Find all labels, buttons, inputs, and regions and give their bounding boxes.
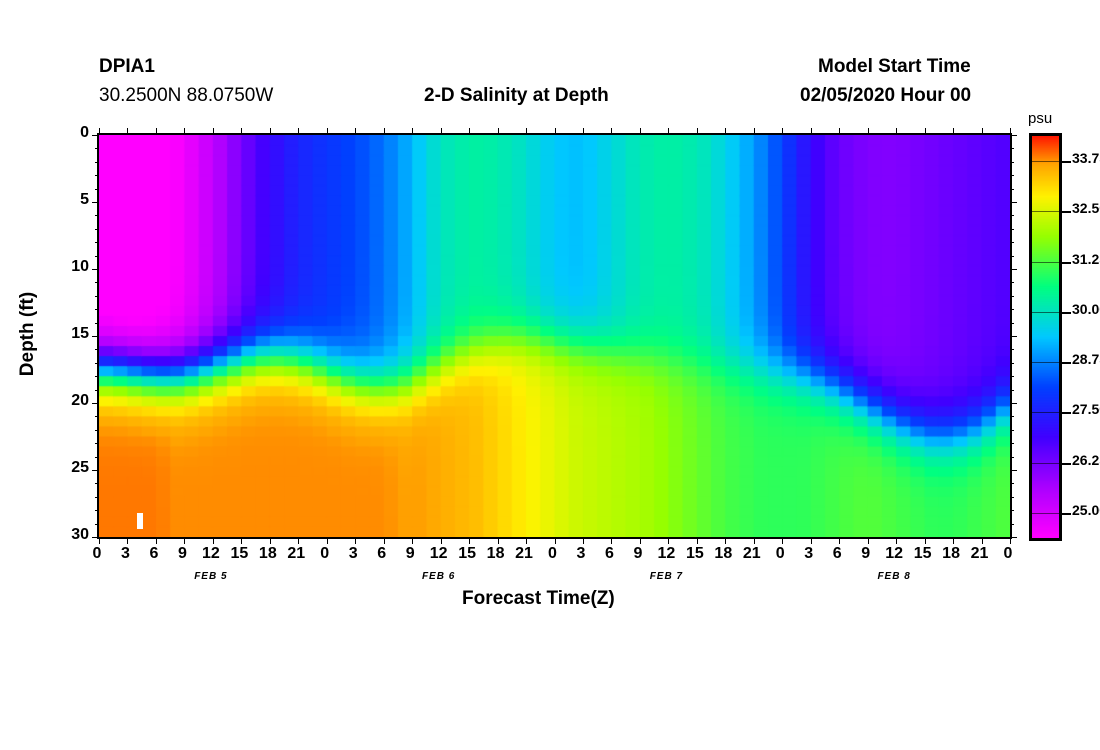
x-tick [156, 128, 157, 135]
x-tick [270, 128, 271, 135]
x-tick-label: 15 [914, 545, 932, 563]
x-tick [1010, 537, 1011, 544]
x-tick-label: 12 [885, 545, 903, 563]
y-tick [1010, 336, 1017, 337]
y-minor-tick [95, 309, 99, 310]
y-minor-tick [1010, 323, 1014, 324]
model-start-label: Model Start Time [818, 56, 971, 78]
colorbar-unit-label: psu [1028, 110, 1052, 127]
y-minor-tick [95, 148, 99, 149]
x-tick [498, 128, 499, 135]
x-tick-label: 0 [776, 545, 785, 563]
colorbar-gradient [1032, 136, 1059, 538]
x-tick [384, 537, 385, 544]
colorbar-tick [1062, 513, 1071, 515]
y-minor-tick [1010, 416, 1014, 417]
x-tick [982, 128, 983, 135]
x-tick [925, 537, 926, 544]
y-minor-tick [95, 497, 99, 498]
x-tick [127, 537, 128, 544]
y-minor-tick [95, 457, 99, 458]
x-tick-label: 12 [657, 545, 675, 563]
y-tick [92, 403, 99, 404]
x-tick [327, 128, 328, 135]
y-minor-tick [95, 175, 99, 176]
x-tick [839, 537, 840, 544]
y-minor-tick [1010, 215, 1014, 216]
x-tick [896, 128, 897, 135]
colorbar-tick-label: 28.750 [1072, 351, 1100, 367]
x-tick [953, 537, 954, 544]
station-id: DPIA1 [99, 56, 155, 78]
x-tick [925, 128, 926, 135]
x-tick [868, 537, 869, 544]
y-tick-label: 15 [59, 325, 89, 343]
x-axis-day-label: FEB 6 [422, 571, 455, 582]
x-tick-label: 18 [259, 545, 277, 563]
x-tick [99, 128, 100, 135]
x-tick [213, 537, 214, 544]
y-minor-tick [1010, 175, 1014, 176]
colorbar-tick-label: 33.750 [1072, 150, 1100, 166]
x-tick [241, 537, 242, 544]
x-tick [697, 128, 698, 135]
x-tick-label: 21 [287, 545, 305, 563]
y-tick [92, 269, 99, 270]
colorbar-band-separator [1032, 161, 1059, 162]
x-tick-label: 0 [548, 545, 557, 563]
x-tick [384, 128, 385, 135]
x-tick [412, 537, 413, 544]
y-minor-tick [1010, 457, 1014, 458]
y-minor-tick [95, 256, 99, 257]
colorbar-band-separator [1032, 211, 1059, 212]
y-minor-tick [95, 189, 99, 190]
x-tick [640, 128, 641, 135]
x-tick [469, 128, 470, 135]
x-tick-label: 0 [320, 545, 329, 563]
colorbar-tick [1062, 362, 1071, 364]
x-axis-title: Forecast Time(Z) [462, 588, 615, 610]
y-minor-tick [1010, 376, 1014, 377]
colorbar [1029, 133, 1062, 541]
x-tick [811, 128, 812, 135]
y-minor-tick [95, 215, 99, 216]
y-minor-tick [95, 430, 99, 431]
y-minor-tick [95, 229, 99, 230]
y-minor-tick [95, 282, 99, 283]
x-tick-label: 15 [230, 545, 248, 563]
x-tick [441, 537, 442, 544]
y-minor-tick [1010, 363, 1014, 364]
x-tick [754, 537, 755, 544]
x-tick [611, 537, 612, 544]
x-tick [184, 128, 185, 135]
y-tick-label: 25 [59, 459, 89, 477]
y-minor-tick [95, 510, 99, 511]
y-tick [92, 470, 99, 471]
colorbar-tick-label: 31.250 [1072, 251, 1100, 267]
x-tick-label: 15 [458, 545, 476, 563]
plot-area [97, 133, 1012, 539]
colorbar-tick-label: 25.000 [1072, 502, 1100, 518]
y-minor-tick [1010, 443, 1014, 444]
page-title: 2-D Salinity at Depth [424, 85, 609, 107]
x-tick-label: 15 [686, 545, 704, 563]
x-tick-label: 12 [430, 545, 448, 563]
y-minor-tick [95, 363, 99, 364]
x-tick-label: 6 [149, 545, 158, 563]
x-tick [953, 128, 954, 135]
y-minor-tick [95, 349, 99, 350]
x-tick [782, 537, 783, 544]
y-minor-tick [95, 162, 99, 163]
x-tick-label: 0 [1004, 545, 1013, 563]
y-tick [92, 202, 99, 203]
y-tick-label: 30 [59, 526, 89, 544]
x-tick-label: 3 [804, 545, 813, 563]
x-tick [412, 128, 413, 135]
colorbar-tick-label: 27.500 [1072, 401, 1100, 417]
y-minor-tick [95, 296, 99, 297]
y-tick-label: 20 [59, 392, 89, 410]
x-tick [725, 128, 726, 135]
x-tick-label: 21 [743, 545, 761, 563]
y-tick [1010, 135, 1017, 136]
y-tick [1010, 202, 1017, 203]
x-tick [241, 128, 242, 135]
x-tick [697, 537, 698, 544]
x-tick [811, 537, 812, 544]
y-tick-label: 10 [59, 258, 89, 276]
colorbar-band-separator [1032, 513, 1059, 514]
x-tick [583, 537, 584, 544]
x-tick [782, 128, 783, 135]
y-tick-label: 0 [59, 124, 89, 142]
x-tick-label: 18 [487, 545, 505, 563]
x-tick-label: 18 [714, 545, 732, 563]
x-tick [327, 537, 328, 544]
x-tick [184, 537, 185, 544]
x-tick-label: 3 [577, 545, 586, 563]
x-tick [526, 128, 527, 135]
x-tick-label: 9 [861, 545, 870, 563]
y-minor-tick [95, 323, 99, 324]
x-tick [896, 537, 897, 544]
y-tick [92, 135, 99, 136]
x-tick-label: 0 [93, 545, 102, 563]
colorbar-tick-label: 30.000 [1072, 301, 1100, 317]
x-axis-day-label: FEB 5 [194, 571, 227, 582]
y-minor-tick [1010, 148, 1014, 149]
x-tick [298, 537, 299, 544]
colorbar-tick-label: 26.250 [1072, 452, 1100, 468]
y-minor-tick [1010, 296, 1014, 297]
y-minor-tick [1010, 256, 1014, 257]
station-coordinates: 30.2500N 88.0750W [99, 85, 273, 107]
colorbar-tick [1062, 262, 1071, 264]
y-minor-tick [1010, 309, 1014, 310]
y-tick [1010, 470, 1017, 471]
x-tick-label: 3 [121, 545, 130, 563]
y-minor-tick [1010, 510, 1014, 511]
x-tick-label: 9 [633, 545, 642, 563]
x-tick [555, 537, 556, 544]
colorbar-band-separator [1032, 362, 1059, 363]
x-tick [213, 128, 214, 135]
colorbar-tick [1062, 412, 1071, 414]
y-axis-title: Depth (ft) [17, 292, 39, 376]
y-minor-tick [1010, 242, 1014, 243]
y-tick [1010, 537, 1017, 538]
salinity-plot-page: DPIA1 30.2500N 88.0750W 2-D Salinity at … [0, 0, 1100, 750]
y-tick [92, 336, 99, 337]
x-axis-day-label: FEB 7 [650, 571, 683, 582]
x-tick [469, 537, 470, 544]
x-tick-label: 3 [349, 545, 358, 563]
y-minor-tick [1010, 483, 1014, 484]
colorbar-band-separator [1032, 262, 1059, 263]
colorbar-tick-label: 32.500 [1072, 200, 1100, 216]
x-tick [555, 128, 556, 135]
x-tick [868, 128, 869, 135]
colorbar-tick [1062, 312, 1071, 314]
x-tick-label: 9 [406, 545, 415, 563]
y-minor-tick [95, 416, 99, 417]
x-tick-label: 12 [202, 545, 220, 563]
colorbar-tick [1062, 161, 1071, 163]
y-tick [92, 537, 99, 538]
x-tick [982, 537, 983, 544]
x-tick [298, 128, 299, 135]
x-tick [640, 537, 641, 544]
x-tick [611, 128, 612, 135]
x-tick [355, 537, 356, 544]
colorbar-band-separator [1032, 312, 1059, 313]
salinity-heatmap [99, 135, 1010, 537]
y-minor-tick [1010, 349, 1014, 350]
y-minor-tick [95, 483, 99, 484]
x-tick [441, 128, 442, 135]
y-minor-tick [1010, 430, 1014, 431]
x-tick-label: 21 [515, 545, 533, 563]
y-minor-tick [95, 242, 99, 243]
colorbar-tick [1062, 463, 1071, 465]
y-minor-tick [95, 376, 99, 377]
y-minor-tick [1010, 524, 1014, 525]
y-tick [1010, 403, 1017, 404]
y-minor-tick [95, 390, 99, 391]
x-tick [725, 537, 726, 544]
x-tick-label: 6 [377, 545, 386, 563]
y-minor-tick [1010, 229, 1014, 230]
x-tick [156, 537, 157, 544]
x-tick [583, 128, 584, 135]
x-tick-label: 18 [942, 545, 960, 563]
missing-data-cell [137, 513, 143, 529]
colorbar-tick [1062, 211, 1071, 213]
colorbar-band-separator [1032, 412, 1059, 413]
x-axis-day-label: FEB 8 [877, 571, 910, 582]
y-minor-tick [95, 443, 99, 444]
x-tick [498, 537, 499, 544]
y-minor-tick [95, 524, 99, 525]
y-minor-tick [1010, 189, 1014, 190]
x-tick [526, 537, 527, 544]
y-minor-tick [1010, 282, 1014, 283]
x-tick-label: 9 [178, 545, 187, 563]
x-tick [355, 128, 356, 135]
y-minor-tick [1010, 162, 1014, 163]
model-start-value: 02/05/2020 Hour 00 [800, 85, 971, 107]
y-minor-tick [1010, 497, 1014, 498]
y-tick-label: 5 [59, 191, 89, 209]
x-tick [1010, 128, 1011, 135]
x-tick-label: 21 [971, 545, 989, 563]
x-tick [839, 128, 840, 135]
x-tick [99, 537, 100, 544]
x-tick [754, 128, 755, 135]
x-tick [668, 537, 669, 544]
x-tick [270, 537, 271, 544]
colorbar-band-separator [1032, 463, 1059, 464]
y-minor-tick [1010, 390, 1014, 391]
x-tick [127, 128, 128, 135]
x-tick-label: 6 [605, 545, 614, 563]
y-tick [1010, 269, 1017, 270]
x-tick [668, 128, 669, 135]
x-tick-label: 6 [833, 545, 842, 563]
